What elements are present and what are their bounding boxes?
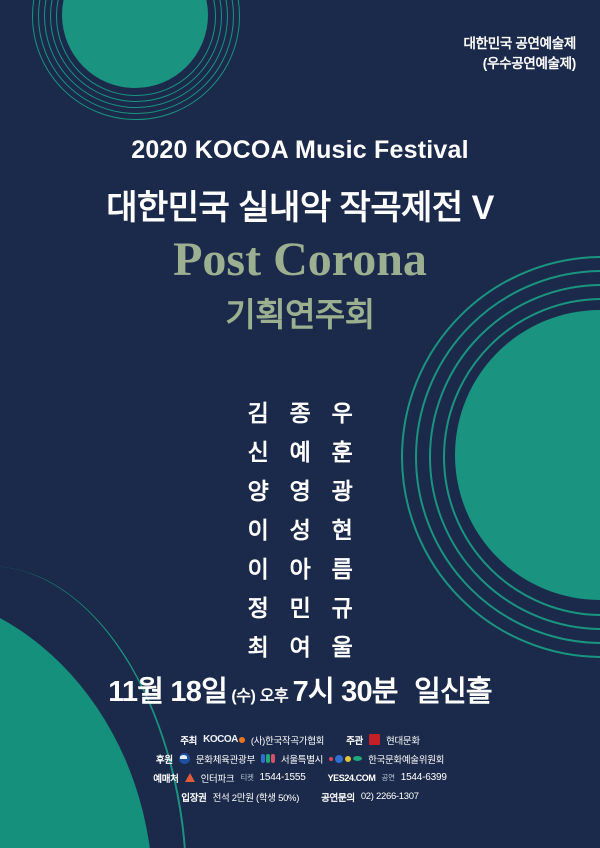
footer-row-price: 입장권 전석 2만원 (학생 50%) 공연문의 02) 2266-1307 [0, 787, 600, 806]
composer-char: 훈 [321, 433, 363, 467]
composer-row: 최 여 울 [237, 628, 363, 662]
seoul-bar-red [271, 754, 275, 763]
organizer-name: 현대문화 [386, 733, 420, 747]
arko-dot-red [329, 757, 333, 761]
composer-row: 이 성 현 [237, 511, 363, 545]
english-title: 2020 KOCOA Music Festival [0, 136, 600, 165]
festival-badge-line1: 대한민국 공연예술제 [463, 34, 576, 54]
footer-row-sponsors: 후원 문화체육관광부 서울특별시 한국문화예술위원회 [0, 749, 600, 768]
price-label: 입장권 [181, 790, 206, 804]
host-name: (사)한국작곡가협회 [251, 733, 324, 747]
taeguk-logo-icon [179, 753, 190, 764]
hyundai-munhwa-logo-icon [369, 734, 380, 745]
composer-char: 름 [321, 550, 363, 584]
composer-char: 우 [321, 394, 363, 428]
top-left-ring-4 [38, 0, 234, 114]
organizer-label: 주관 [346, 733, 363, 747]
composer-char: 아 [279, 550, 321, 584]
ticket-vendor-2-phone: 1544-6399 [401, 772, 447, 783]
price-text: 전석 2만원 (학생 50%) [213, 790, 299, 804]
festival-badge: 대한민국 공연예술제 (우수공연예술제) [463, 34, 576, 73]
interpark-tree-icon [185, 773, 195, 782]
sponsor-label: 후원 [156, 752, 173, 766]
composer-row: 신 예 훈 [237, 433, 363, 467]
composer-row: 김 종 우 [237, 394, 363, 428]
composer-char: 성 [279, 511, 321, 545]
seoul-logo-icon [261, 754, 275, 763]
schedule-ampm: 오후 [260, 688, 288, 705]
kocoa-logo-text: KOCOA [203, 734, 238, 745]
ticket-vendor-1-phone: 1544-1555 [260, 772, 306, 783]
composer-char: 신 [237, 433, 279, 467]
ticket-vendor-1-tag: 티켓 [240, 772, 253, 783]
composer-char: 민 [279, 589, 321, 623]
arko-logo-icon [329, 755, 362, 763]
top-left-ring-5 [32, 0, 240, 120]
inquiry-phone: 02) 2266-1307 [361, 791, 419, 802]
feature-title: Post Corona [0, 232, 600, 287]
composer-char: 규 [321, 589, 363, 623]
composer-char: 이 [237, 550, 279, 584]
concert-poster: 대한민국 공연예술제 (우수공연예술제) 2020 KOCOA Music Fe… [0, 0, 600, 848]
kocoa-logo-icon: KOCOA [203, 734, 245, 745]
footer-row-ticketing: 예매처 인터파크 티켓 1544-1555 YES24.COM 공연 1544-… [0, 768, 600, 787]
composer-char: 양 [237, 472, 279, 506]
schedule-time: 7시 30분 [293, 676, 398, 708]
composer-char: 울 [321, 628, 363, 662]
composer-row: 이 아 름 [237, 550, 363, 584]
top-left-ring-3 [44, 0, 228, 108]
top-left-circle-decoration [62, 0, 208, 88]
schedule-date: 11월 18일 [108, 676, 227, 708]
composer-char: 광 [321, 472, 363, 506]
host-label: 주최 [180, 733, 197, 747]
composer-char: 종 [279, 394, 321, 428]
composer-char: 정 [237, 589, 279, 623]
subtitle: 기획연주회 [0, 288, 600, 336]
ticket-vendor-2-tag: 공연 [382, 772, 395, 783]
composer-char: 여 [279, 628, 321, 662]
footer-row-host: 주최 KOCOA (사)한국작곡가협회 주관 현대문화 [0, 730, 600, 749]
korean-title: 대한민국 실내악 작곡제전 V [0, 180, 600, 229]
arko-dot-blue [335, 755, 343, 763]
composer-char: 이 [237, 511, 279, 545]
ticket-label: 예매처 [153, 771, 178, 785]
composer-char: 현 [321, 511, 363, 545]
festival-badge-line2: (우수공연예술제) [463, 54, 576, 74]
seoul-bar-green [266, 754, 270, 763]
composer-row: 양 영 광 [237, 472, 363, 506]
composer-char: 예 [279, 433, 321, 467]
composer-char: 최 [237, 628, 279, 662]
kocoa-dot-icon [239, 737, 245, 743]
composer-row: 정 민 규 [237, 589, 363, 623]
ticket-vendor-1: 인터파크 [201, 771, 235, 785]
schedule-day: (수) [231, 688, 255, 705]
sponsor-name-2: 서울특별시 [281, 752, 323, 766]
top-left-ring-2 [50, 0, 222, 102]
composer-char: 영 [279, 472, 321, 506]
inquiry-label: 공연문의 [321, 790, 355, 804]
composer-list: 김 종 우 신 예 훈 양 영 광 이 성 현 이 아 름 [0, 394, 600, 662]
composer-char: 김 [237, 394, 279, 428]
sponsor-name-3: 한국문화예술위원회 [368, 752, 444, 766]
arko-dot-yellow [345, 756, 351, 762]
sponsor-name-1: 문화체육관광부 [196, 752, 255, 766]
arko-dot-green [353, 756, 362, 761]
schedule-line: 11월 18일 (수) 오후 7시 30분 일신홀 [0, 668, 600, 710]
yes24-logo-icon: YES24.COM [328, 773, 376, 783]
footer-credits: 주최 KOCOA (사)한국작곡가협회 주관 현대문화 후원 문화체육관광부 [0, 730, 600, 806]
schedule-venue: 일신홀 [414, 676, 492, 708]
top-left-ring-1 [56, 0, 216, 96]
seoul-bar-blue [261, 754, 265, 763]
